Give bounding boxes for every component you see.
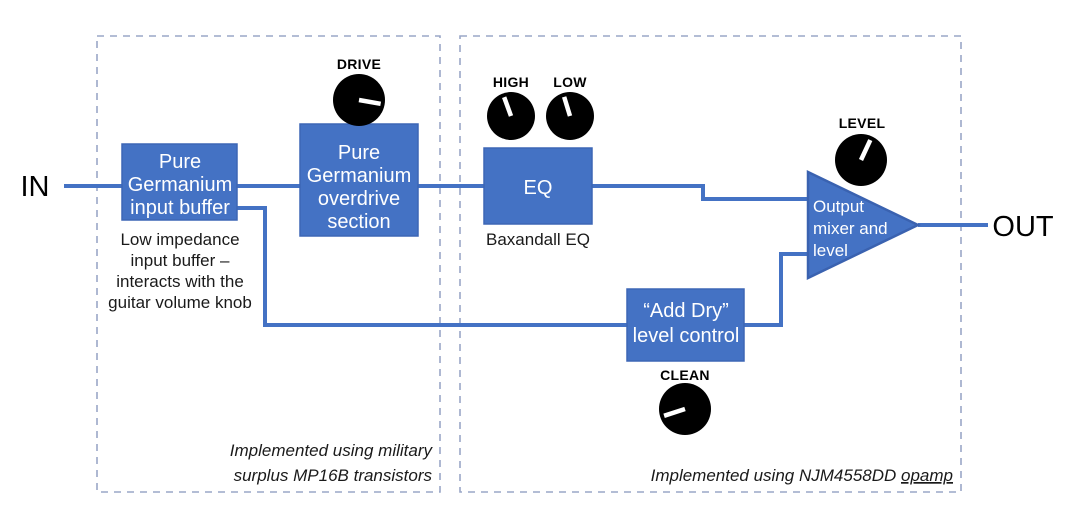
block-diagram: IN OUT Pure Germanium input buffer Low i… xyxy=(0,0,1068,526)
knob-low[interactable]: LOW xyxy=(546,74,594,140)
input-buffer-label-line2: Germanium xyxy=(128,174,232,196)
group-frame-opamp xyxy=(460,36,961,492)
footnote-opamp-spellcheck-word: opamp xyxy=(901,466,953,485)
input-buffer-label-line3: input buffer xyxy=(130,197,230,219)
eq-caption: Baxandall EQ xyxy=(486,230,590,249)
knob-clean[interactable]: CLEAN xyxy=(659,367,711,435)
block-output-mixer[interactable]: Output mixer and level xyxy=(808,172,918,278)
signal-flow-diagram: IN OUT Pure Germanium input buffer Low i… xyxy=(0,0,1068,526)
knob-clean-label: CLEAN xyxy=(660,367,710,383)
input-buffer-label-line1: Pure xyxy=(159,151,201,173)
add-dry-label-line2: level control xyxy=(633,325,740,347)
eq-label: EQ xyxy=(524,177,553,199)
output-label: OUT xyxy=(992,211,1054,243)
knob-high-label: HIGH xyxy=(493,74,529,90)
block-eq[interactable]: EQ xyxy=(484,148,592,224)
knob-level[interactable]: LEVEL xyxy=(835,115,887,186)
wire-dry-tap xyxy=(237,208,627,325)
knob-low-label: LOW xyxy=(553,74,587,90)
knob-drive[interactable]: DRIVE xyxy=(333,56,385,126)
overdrive-label-line1: Pure xyxy=(338,142,380,164)
footnote-germanium-line2: surplus MP16B transistors xyxy=(234,466,433,485)
input-buffer-caption-line2: input buffer – xyxy=(131,251,230,270)
knob-drive-label: DRIVE xyxy=(337,56,381,72)
footnote-opamp: Implemented using NJM4558DD opamp xyxy=(651,466,953,485)
footnote-opamp-text: Implemented using NJM4558DD xyxy=(651,466,901,485)
overdrive-label-line2: Germanium xyxy=(307,165,411,187)
wire-dry-to-mixer xyxy=(744,254,808,325)
knob-high[interactable]: HIGH xyxy=(487,74,535,140)
footnote-germanium: Implemented using military surplus MP16B… xyxy=(230,441,434,485)
block-input-buffer[interactable]: Pure Germanium input buffer xyxy=(122,144,237,220)
input-buffer-caption-line1: Low impedance xyxy=(120,230,239,249)
input-buffer-caption-line4: guitar volume knob xyxy=(108,293,252,312)
output-mixer-label-line3: level xyxy=(813,241,848,260)
wire-eq-to-mixer xyxy=(592,186,808,199)
input-buffer-caption: Low impedance input buffer – interacts w… xyxy=(108,230,252,312)
footnote-opamp-line1: Implemented using NJM4558DD opamp xyxy=(651,466,953,485)
output-mixer-label-line2: mixer and xyxy=(813,219,888,238)
output-mixer-label-line1: Output xyxy=(813,197,864,216)
overdrive-label-line3: overdrive xyxy=(318,188,400,210)
input-label: IN xyxy=(21,171,50,203)
overdrive-label-line4: section xyxy=(327,211,390,233)
input-buffer-caption-line3: interacts with the xyxy=(116,272,244,291)
add-dry-label-line1: “Add Dry” xyxy=(643,300,729,322)
knob-level-label: LEVEL xyxy=(839,115,886,131)
block-overdrive-section[interactable]: Pure Germanium overdrive section xyxy=(300,124,418,236)
footnote-germanium-line1: Implemented using military xyxy=(230,441,434,460)
block-add-dry[interactable]: “Add Dry” level control xyxy=(627,289,744,361)
